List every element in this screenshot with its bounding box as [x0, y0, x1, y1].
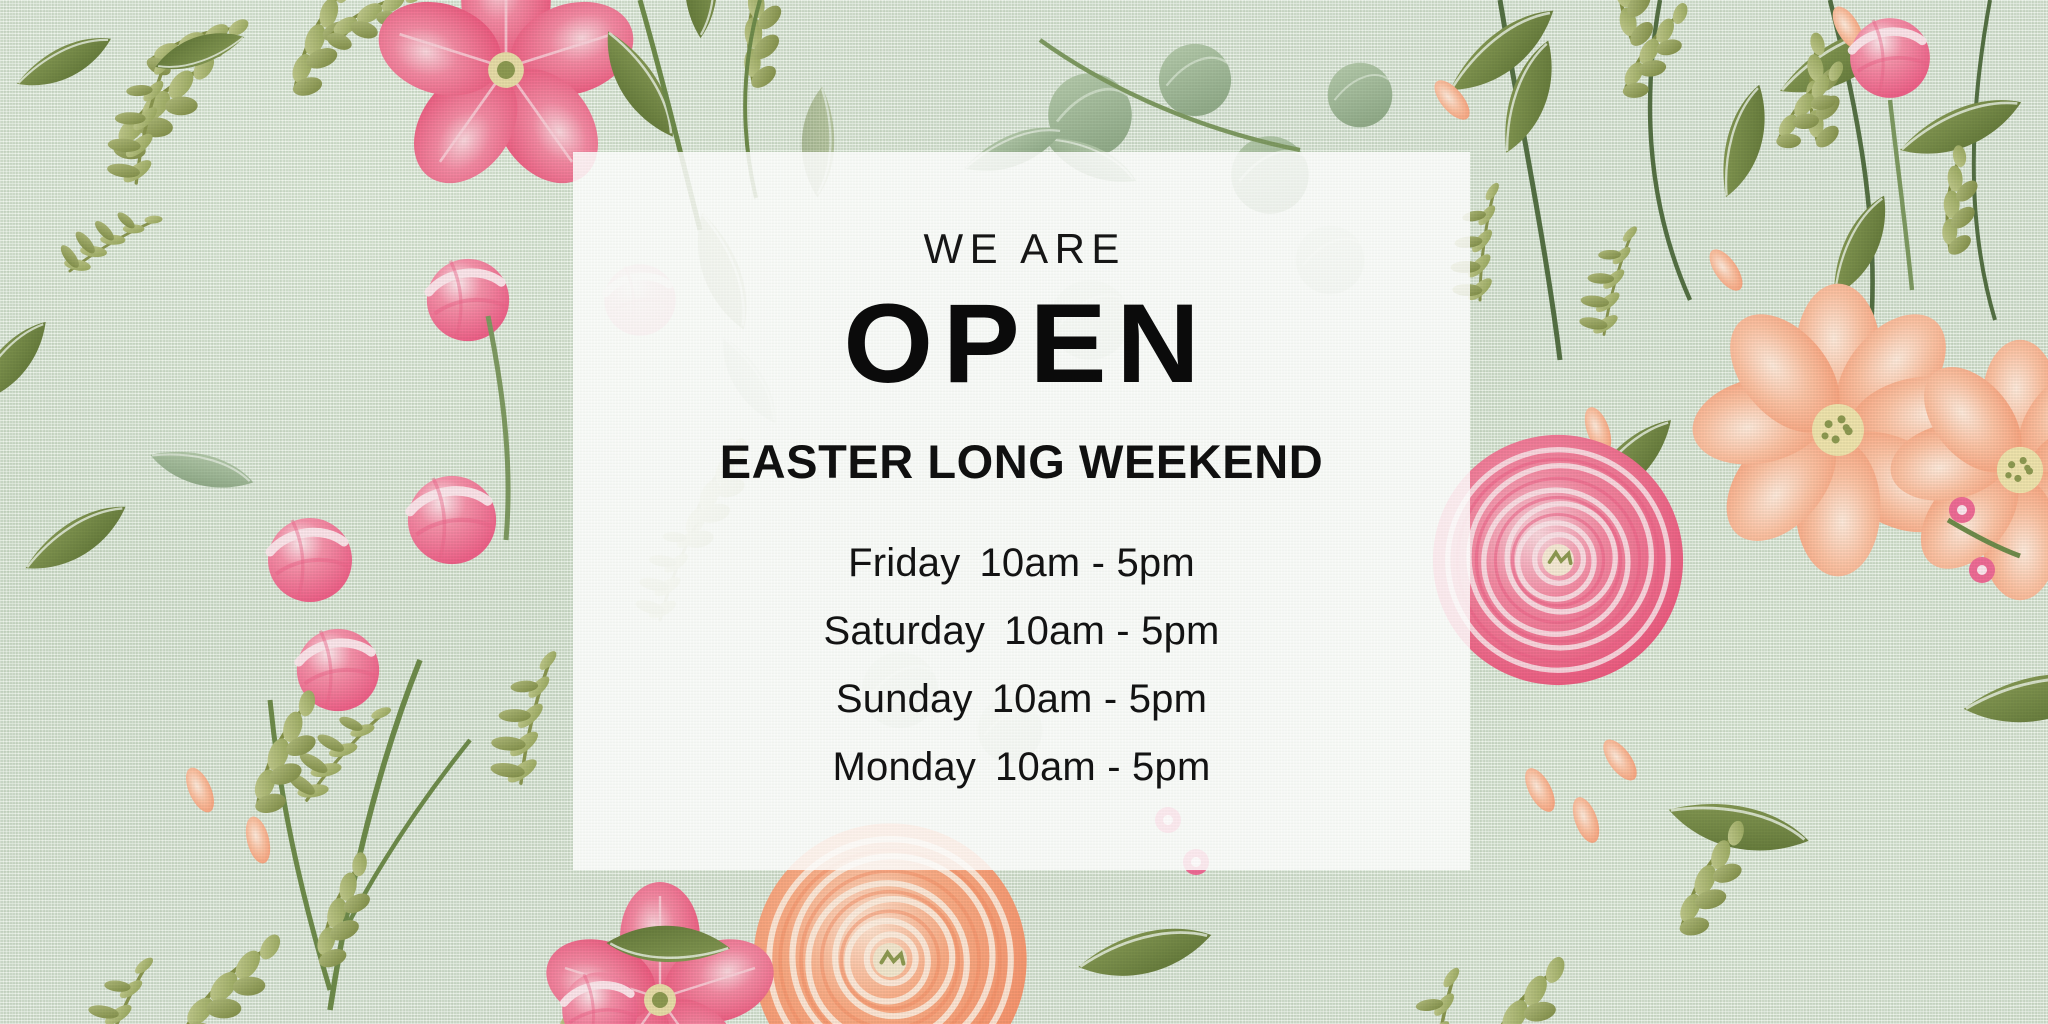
hours-day: Sunday — [836, 679, 973, 719]
hours-card: WE ARE OPEN EASTER LONG WEEKEND Friday10… — [573, 152, 1470, 870]
hours-time: 10am - 5pm — [1004, 611, 1219, 651]
hours-day: Monday — [833, 747, 977, 787]
hours-time: 10am - 5pm — [992, 679, 1207, 719]
hours-time: 10am - 5pm — [995, 747, 1210, 787]
hours-row: Sunday10am - 5pm — [836, 665, 1207, 733]
hours-day: Saturday — [823, 611, 985, 651]
eyebrow-text: WE ARE — [917, 228, 1126, 270]
hours-time: 10am - 5pm — [979, 543, 1194, 583]
headline-open: OPEN — [834, 286, 1210, 402]
hours-row: Saturday10am - 5pm — [823, 597, 1219, 665]
hours-row: Monday10am - 5pm — [833, 733, 1211, 801]
subheadline-occasion: EASTER LONG WEEKEND — [720, 438, 1323, 485]
open-hours-banner: WE ARE OPEN EASTER LONG WEEKEND Friday10… — [0, 0, 2048, 1024]
opening-hours-list: Friday10am - 5pmSaturday10am - 5pmSunday… — [823, 529, 1219, 801]
hours-row: Friday10am - 5pm — [848, 529, 1195, 597]
hours-day: Friday — [848, 543, 960, 583]
